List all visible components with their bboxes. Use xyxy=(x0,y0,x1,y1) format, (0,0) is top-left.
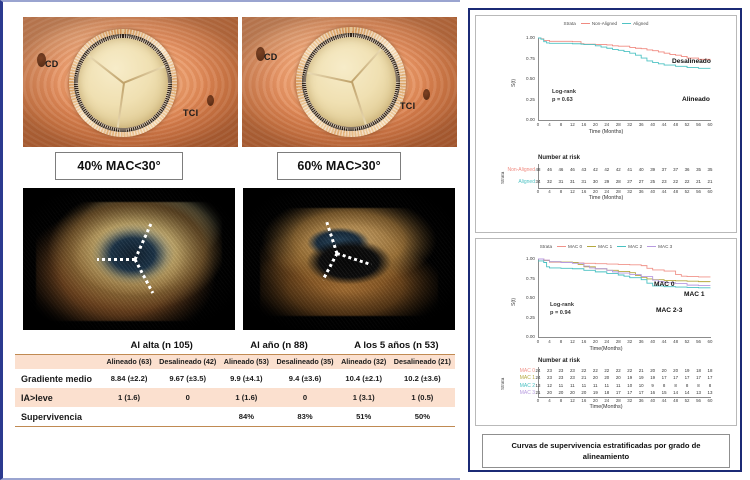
table-row: Gradiente medio 8.84 (±2.2) 9.67 (±3.5) … xyxy=(15,369,455,388)
table-sub-header-row: Alineado (63) Desalineado (42) Alineado … xyxy=(15,355,455,370)
risk-table-title: Number at risk xyxy=(538,358,580,364)
group-header-discharge: Al alta (n 105) xyxy=(103,338,220,355)
label-cd: CD xyxy=(45,59,59,69)
x-axis-label: Time (Months) xyxy=(476,129,736,135)
cell: 8.84 (±2.2) xyxy=(103,369,155,388)
legend-title: Strata xyxy=(564,21,576,26)
cell: 1 (1.6) xyxy=(220,388,272,407)
chart-legend: StrataMAC 0MAC 1MAC 2MAC 3 xyxy=(476,244,736,249)
commissure-line xyxy=(308,72,352,83)
label-cd: CD xyxy=(264,52,278,62)
table-row: Supervivencia 84% 83% 51% 50% xyxy=(15,407,455,427)
group-header-one-year: Al año (n 88) xyxy=(220,338,337,355)
risk-count: 8 xyxy=(703,383,717,388)
right-panel: StrataNon-AlignedAligned0.000.250.500.75… xyxy=(468,8,742,472)
curve-label: MAC 1 xyxy=(684,291,705,298)
sub-header-blank xyxy=(15,355,103,370)
log-rank-pvalue: p = 0.94 xyxy=(550,310,571,316)
risk-count: 13 xyxy=(703,390,717,395)
y-axis-tick: 1.00 xyxy=(518,35,535,40)
legend-title: Strata xyxy=(540,244,552,249)
mac-tag-row: 40% MAC<30° 60% MAC>30° xyxy=(23,152,453,182)
km-chart-mac-grade: StrataMAC 0MAC 1MAC 2MAC 30.000.250.500.… xyxy=(476,239,736,425)
valve-image-aligned: CD TCI xyxy=(23,17,238,147)
y-axis-tick: 0.25 xyxy=(518,315,535,320)
x-axis-tick: 60 xyxy=(703,122,717,127)
risk-table-title: Number at risk xyxy=(538,155,580,161)
legend-swatch xyxy=(557,246,566,247)
curve-label: MAC 2-3 xyxy=(656,307,682,314)
km-chart-alignment-card: StrataNon-AlignedAligned0.000.250.500.75… xyxy=(475,15,737,233)
cell: 0 xyxy=(155,388,220,407)
valve-leaflets xyxy=(306,37,396,127)
cell: 50% xyxy=(390,407,455,427)
log-rank-label: Log-rank xyxy=(550,302,574,308)
results-table: Al alta (n 105) Al año (n 88) A los 5 añ… xyxy=(15,338,455,427)
x-axis-tick: 60 xyxy=(703,339,717,344)
legend-swatch xyxy=(581,23,590,24)
row-label-survival: Supervivencia xyxy=(15,407,103,427)
risk-x-tick: 60 xyxy=(703,189,717,194)
legend-label: MAC 3 xyxy=(658,244,672,249)
log-rank-annotation: Log-rankp = 0.63 xyxy=(552,88,576,105)
legend-label: Non-Aligned xyxy=(592,21,617,26)
commissure-marker xyxy=(97,258,135,261)
cell: 1 (0.5) xyxy=(390,388,455,407)
y-axis-label: S(t) xyxy=(511,298,517,306)
coronary-ostium-icon xyxy=(423,89,430,100)
legend-label: MAC 2 xyxy=(628,244,642,249)
x-axis-label: Time(Months) xyxy=(476,346,736,352)
legend-label: MAC 1 xyxy=(598,244,612,249)
chart-legend: StrataNon-AlignedAligned xyxy=(476,21,736,26)
risk-x-axis-label: Time(Months) xyxy=(476,404,736,410)
table-group-header-row: Al alta (n 105) Al año (n 88) A los 5 añ… xyxy=(15,338,455,355)
y-axis-tick: 0.75 xyxy=(518,56,535,61)
y-axis-tick: 0.50 xyxy=(518,76,535,81)
sub-header-aligned-discharge: Alineado (63) xyxy=(103,355,155,370)
cell: 84% xyxy=(220,407,272,427)
y-axis-tick: 0.25 xyxy=(518,97,535,102)
legend-label: Aligned xyxy=(633,21,648,26)
y-axis-tick: 0.50 xyxy=(518,295,535,300)
y-axis-tick: 1.00 xyxy=(518,256,535,261)
legend-swatch xyxy=(647,246,656,247)
curve-label: Desalineado xyxy=(672,58,711,65)
risk-count: 21 xyxy=(703,179,717,184)
sub-header-misaligned-five: Desalineado (21) xyxy=(390,355,455,370)
figure-root: CD TCI CD TCI xyxy=(0,0,750,480)
echo-image-row xyxy=(23,188,453,330)
cell: 0 xyxy=(272,388,337,407)
prosthesis-ring xyxy=(69,29,177,137)
cell: 9.67 (±3.5) xyxy=(155,369,220,388)
valve-leaflets xyxy=(78,38,168,128)
sub-header-misaligned-discharge: Desalineado (42) xyxy=(155,355,220,370)
sub-header-aligned-five: Alineado (32) xyxy=(338,355,390,370)
legend-swatch xyxy=(587,246,596,247)
plot-area xyxy=(538,259,711,338)
legend-label: MAC 0 xyxy=(568,244,582,249)
prosthesis-ring xyxy=(296,27,406,137)
risk-count: 17 xyxy=(703,375,717,380)
label-tci: TCI xyxy=(400,101,415,111)
risk-count: 18 xyxy=(703,368,717,373)
commissure-line xyxy=(123,65,165,83)
cell xyxy=(155,407,220,427)
cell: 51% xyxy=(338,407,390,427)
cell: 10.2 (±3.6) xyxy=(390,369,455,388)
group-header-blank xyxy=(15,338,103,355)
cell: 1 (1.6) xyxy=(103,388,155,407)
commissure-line xyxy=(88,55,124,84)
sub-header-misaligned-year: Desalineado (35) xyxy=(272,355,337,370)
plot-area xyxy=(538,38,711,121)
log-rank-label: Log-rank xyxy=(552,89,576,95)
cell: 10.4 (±2.1) xyxy=(338,369,390,388)
cell: 83% xyxy=(272,407,337,427)
table-row: IA>leve 1 (1.6) 0 1 (1.6) 0 1 (3.1) 1 (0… xyxy=(15,388,455,407)
km-chart-alignment: StrataNon-AlignedAligned0.000.250.500.75… xyxy=(476,16,736,232)
cell: 9.4 (±3.6) xyxy=(272,369,337,388)
risk-x-tick: 60 xyxy=(703,398,717,403)
valve-image-misaligned: CD TCI xyxy=(242,17,457,147)
y-axis-tick: 0.75 xyxy=(518,276,535,281)
y-axis-label: S(t) xyxy=(511,79,517,87)
figure-caption: Curvas de supervivencia estratificadas p… xyxy=(482,434,730,468)
curve-label: MAC 0 xyxy=(654,281,675,288)
left-panel: CD TCI CD TCI xyxy=(0,0,460,480)
commissure-line xyxy=(351,48,382,83)
mac-tag-left: 40% MAC<30° xyxy=(55,152,183,180)
echo-image-aligned xyxy=(23,188,235,330)
echo-image-misaligned xyxy=(243,188,455,330)
log-rank-pvalue: p = 0.63 xyxy=(552,97,573,103)
curve-label: Alineado xyxy=(682,96,710,103)
commissure-line xyxy=(351,82,366,125)
log-rank-annotation: Log-rankp = 0.94 xyxy=(550,301,574,318)
row-label-gradient: Gradiente medio xyxy=(15,369,103,388)
cell: 1 (3.1) xyxy=(338,388,390,407)
cell: 9.9 (±4.1) xyxy=(220,369,272,388)
mac-tag-right: 60% MAC>30° xyxy=(277,152,401,180)
legend-swatch xyxy=(622,23,631,24)
row-label-ia: IA>leve xyxy=(15,388,103,407)
coronary-ostium-icon xyxy=(207,95,214,106)
commissure-line xyxy=(117,83,125,128)
km-chart-mac-card: StrataMAC 0MAC 1MAC 2MAC 30.000.250.500.… xyxy=(475,238,737,426)
legend-swatch xyxy=(617,246,626,247)
valve-image-row: CD TCI CD TCI xyxy=(23,17,453,147)
label-tci: TCI xyxy=(183,108,198,118)
group-header-five-years: A los 5 años (n 53) xyxy=(338,338,455,355)
risk-x-axis-label: Time (Months) xyxy=(476,195,736,201)
sub-header-aligned-year: Alineado (53) xyxy=(220,355,272,370)
risk-count: 35 xyxy=(703,167,717,172)
cell xyxy=(103,407,155,427)
